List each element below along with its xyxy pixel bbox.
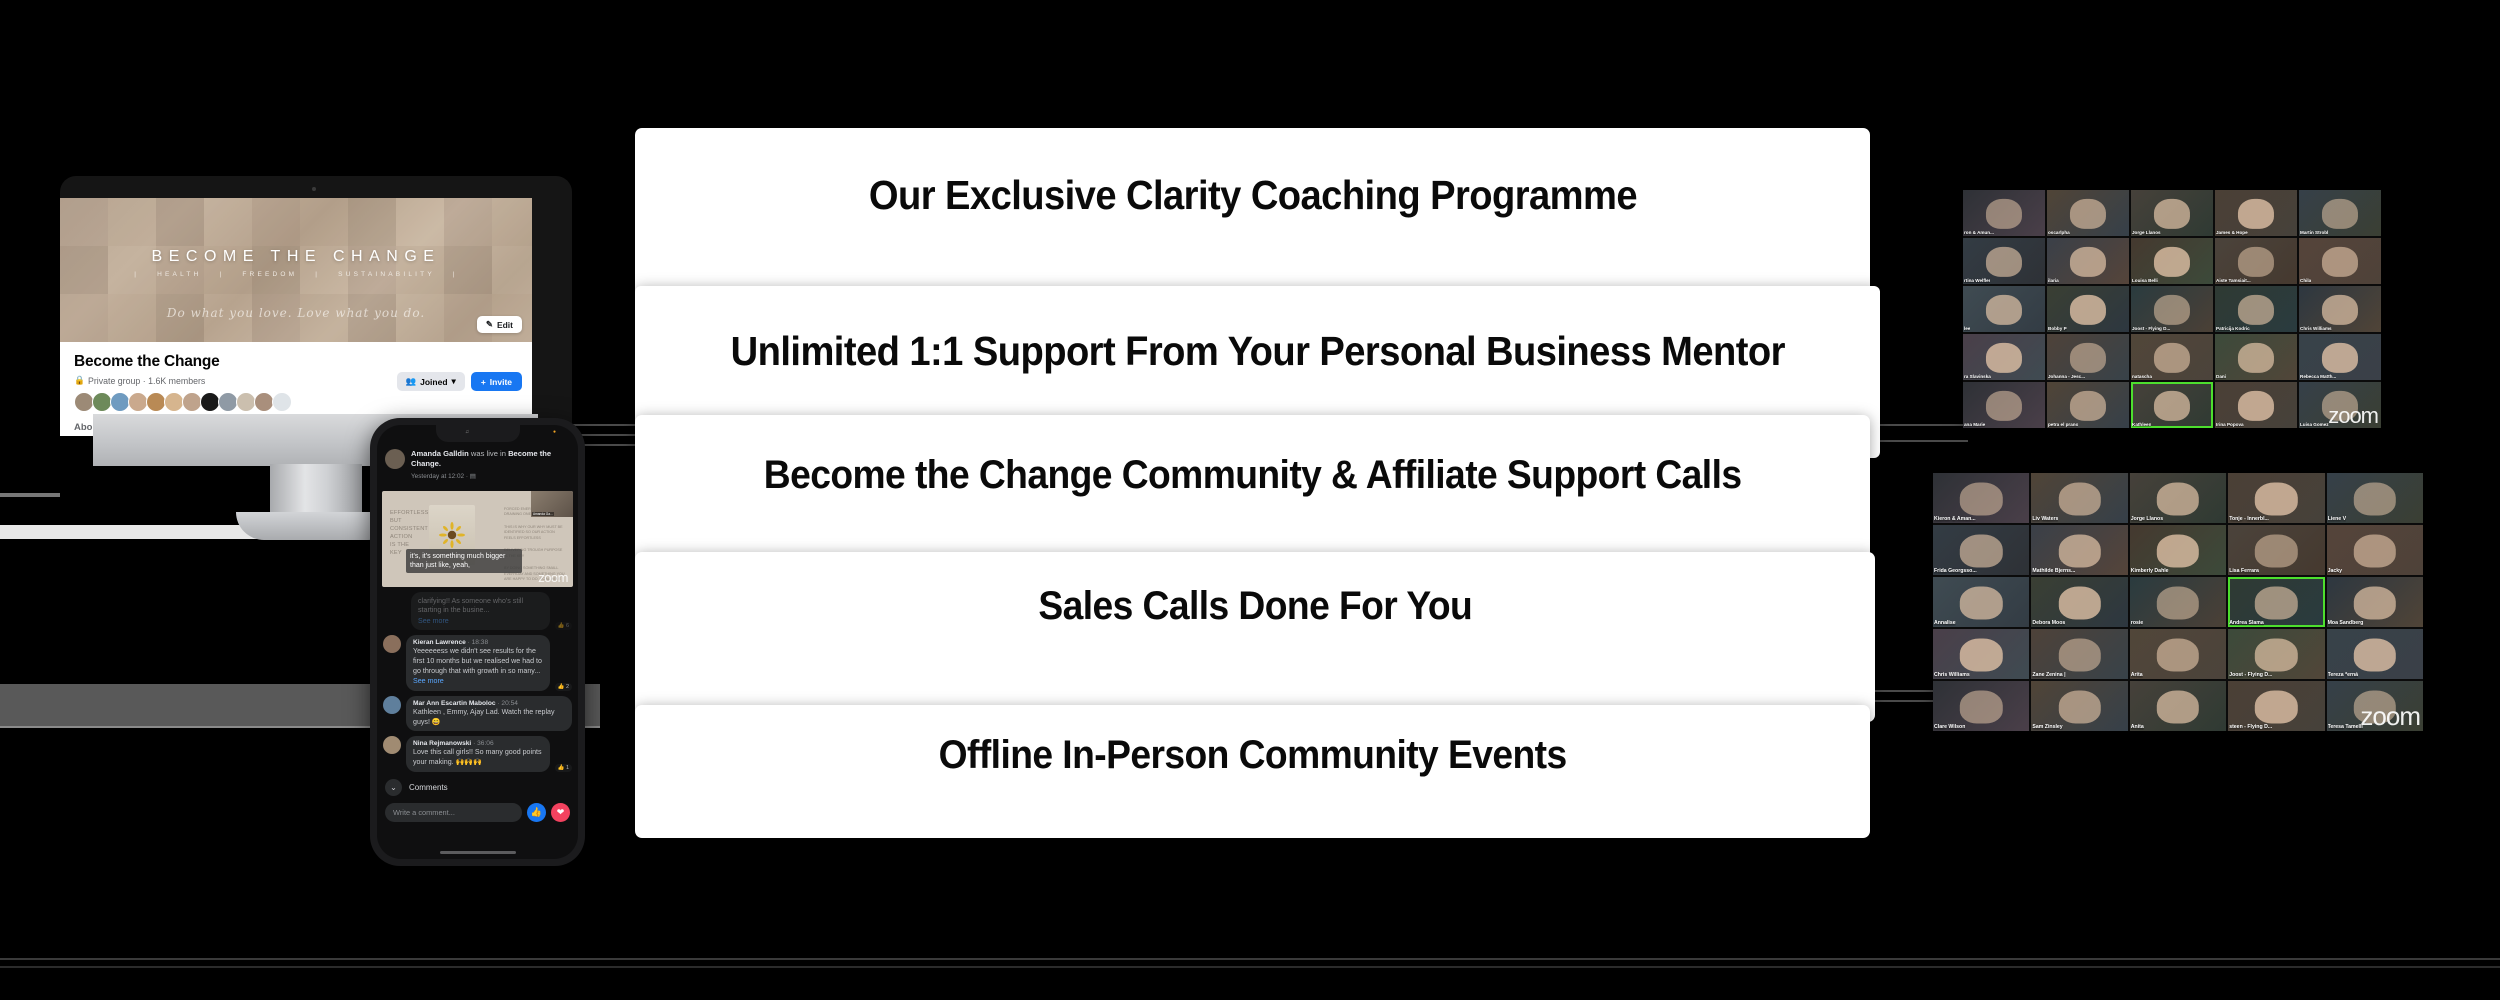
participant-name: Moa Sandberg <box>2328 620 2364 626</box>
participant-video <box>2255 535 2297 568</box>
cover-tagline: Do what you love. Love what you do. <box>60 306 532 320</box>
zoom-participant-tile[interactable]: Chris Williams <box>2299 286 2381 332</box>
comment-item: clarifying!! As someone who's still star… <box>377 587 578 631</box>
chevron-down-icon: ⌄ <box>385 779 402 796</box>
member-avatar[interactable] <box>110 392 130 412</box>
cover-collage-tile <box>156 198 204 246</box>
participant-name: Kathleen <box>2132 422 2151 427</box>
participant-video <box>2058 639 2100 672</box>
participant-name: Liene V <box>2328 516 2346 522</box>
zoom-participant-tile[interactable]: Aiste Tamsiait... <box>2215 238 2297 284</box>
zoom-participant-tile[interactable]: Martin Strobl <box>2299 190 2381 236</box>
zoom-participant-tile[interactable]: Anita <box>2130 681 2226 731</box>
participant-video <box>2238 247 2274 277</box>
participant-video <box>2322 343 2358 373</box>
zoom-participant-tile[interactable]: Joost - Flying D... <box>2228 629 2324 679</box>
zoom-participant-tile[interactable]: ron & Amun... <box>1963 190 2045 236</box>
cover-collage-tile <box>492 198 532 246</box>
participant-name: Irina Popova <box>2216 422 2244 427</box>
iphone-mockup: ♫ ● Amanda Galldin was live in Become th… <box>370 418 585 866</box>
participant-name: Clare Wilson <box>1934 724 1965 730</box>
post-timestamp: Yesterday at 12:02 · ▤ <box>411 472 570 480</box>
invite-button[interactable]: + Invite <box>471 372 522 391</box>
feature-heading: Sales Calls Done For You <box>1038 584 1472 629</box>
zoom-participant-tile[interactable]: Jacky <box>2327 525 2423 575</box>
participant-name: Lisa Ferrara <box>2229 568 2259 574</box>
comment-author[interactable]: Kieran Lawrence · 18:38 <box>413 639 543 646</box>
participant-video <box>1960 639 2002 672</box>
comment-input[interactable]: Write a comment... <box>385 803 522 822</box>
zoom-participant-tile[interactable]: Liv Waters <box>2031 473 2127 523</box>
invite-label: Invite <box>490 377 512 387</box>
participant-video <box>2354 691 2396 724</box>
zoom-participant-tile[interactable]: Irina Popova <box>2215 382 2297 428</box>
participant-name: Luisa Gomez <box>2300 422 2329 427</box>
chevron-down-icon: ▾ <box>452 376 456 387</box>
participant-video <box>1986 391 2022 421</box>
facebook-group-page: BECOME THE CHANGE |HEALTH|FREEDOM|SUSTAI… <box>60 198 532 436</box>
reaction-badge[interactable]: 👍 1 <box>555 764 572 772</box>
member-avatar[interactable] <box>254 392 274 412</box>
participant-name: Bobby P <box>2048 326 2067 331</box>
zoom-participant-tile[interactable]: Annalise <box>1933 577 2029 627</box>
participant-video <box>2255 587 2297 620</box>
feature-panel-sales-calls[interactable]: Sales Calls Done For You <box>635 552 1875 722</box>
comment-body: Love this call girls!! So many good poin… <box>413 748 543 767</box>
avatar[interactable] <box>383 635 401 653</box>
avatar[interactable] <box>385 449 405 469</box>
participant-video <box>2058 587 2100 620</box>
comment-body: Kathleen , Emmy, Ajay Lad. Watch the rep… <box>413 708 565 727</box>
zoom-participant-tile[interactable]: oscarlpha <box>2047 190 2129 236</box>
comment-time: · 36:06 <box>473 740 494 747</box>
participant-video <box>2322 199 2358 229</box>
participant-name: Sam Zinsley <box>2032 724 2062 730</box>
cover-collage-tile <box>300 198 348 246</box>
member-avatar-stack[interactable] <box>74 392 532 412</box>
participant-name: Jorge Llanos <box>2132 230 2161 235</box>
zoom-participant-tile[interactable]: Johanna - Jesc... <box>2047 334 2129 380</box>
live-caption: it's, it's something much bigger than ju… <box>406 549 522 574</box>
participant-name: Tereza *erná <box>2328 672 2358 678</box>
participant-name: Aiste Tamsiait... <box>2216 278 2251 283</box>
slide-bullet: THIS IS WHY OUR WHY MUST BE IDENTIFIED S… <box>504 525 566 542</box>
zoom-participant-tile[interactable]: Jorge Llanos <box>2131 190 2213 236</box>
zoom-watermark: zoom <box>538 570 568 585</box>
participant-video <box>1986 295 2022 325</box>
imac-stand-neck <box>270 464 362 516</box>
pip-name: Amanda Ga... <box>532 512 554 516</box>
participant-name: ilaria <box>2048 278 2059 283</box>
zoom-participant-tile[interactable]: Kimberly Dahle <box>2130 525 2226 575</box>
participant-video <box>2058 691 2100 724</box>
zoom-participant-tile[interactable]: Kathleen <box>2131 382 2213 428</box>
comment-author[interactable]: Nina Rejmanowski · 36:06 <box>413 740 543 747</box>
post-action: was live in <box>469 449 508 458</box>
group-action-buttons: 👥 Joined ▾ + Invite <box>397 372 522 391</box>
participant-video <box>2255 639 2297 672</box>
participant-video <box>2157 691 2199 724</box>
iphone-body: ♫ ● Amanda Galldin was live in Become th… <box>370 418 585 866</box>
cover-collage-tile <box>108 198 156 246</box>
zoom-participant-tile[interactable]: Teresa Tamelli <box>2327 681 2423 731</box>
zoom-participant-tile[interactable]: steen - Flying D... <box>2228 681 2324 731</box>
participant-video <box>2157 483 2199 516</box>
member-avatar[interactable] <box>146 392 166 412</box>
zoom-participant-tile[interactable]: petra el prano <box>2047 382 2129 428</box>
participant-name: Jacky <box>2328 568 2342 574</box>
zoom-participant-tile[interactable]: ilaria <box>2047 238 2129 284</box>
joined-button[interactable]: 👥 Joined ▾ <box>397 372 465 391</box>
participant-name: lee <box>1964 326 1970 331</box>
webcam-icon <box>312 187 316 191</box>
participant-name: Teresa Tamelli <box>2328 724 2363 730</box>
member-avatar[interactable] <box>92 392 112 412</box>
lock-icon: 🔒 <box>74 375 85 386</box>
feature-heading: Unlimited 1:1 Support From Your Personal… <box>730 328 1784 375</box>
cover-collage-tile <box>396 198 444 246</box>
participant-name: Chris Williams <box>2300 326 2332 331</box>
participant-video <box>2322 247 2358 277</box>
edit-cover-label: Edit <box>497 320 513 330</box>
participant-name: Liv Waters <box>2032 516 2058 522</box>
avatar[interactable] <box>383 696 401 714</box>
group-privacy-icon: ▤ <box>470 473 476 480</box>
participant-name: Tonje - Innerbl... <box>2229 516 2269 522</box>
participant-name: ana Marie <box>1964 422 1985 427</box>
group-meta-label: Private group · 1.6K members <box>88 376 205 386</box>
zoom-participant-tile[interactable]: Joost - Flying D... <box>2131 286 2213 332</box>
zoom-participant-tile[interactable]: Moa Sandberg <box>2327 577 2423 627</box>
participant-name: Mathilde Bjerns... <box>2032 568 2075 574</box>
participant-name: Joost - Flying D... <box>2229 672 2272 678</box>
participant-video <box>2238 343 2274 373</box>
comment-bubble[interactable]: clarifying!! As someone who's still star… <box>411 592 550 631</box>
participant-name: rtina Welfler <box>1964 278 1990 283</box>
zoom-participant-tile[interactable]: Kieron & Aman... <box>1933 473 2029 523</box>
cover-collage-tile <box>348 198 396 246</box>
participant-name: Annalise <box>1934 620 1956 626</box>
comments-label: Comments <box>409 783 448 792</box>
participant-name: ron & Amun... <box>1964 230 1994 235</box>
member-avatar[interactable] <box>74 392 94 412</box>
cover-collage-tile <box>204 198 252 246</box>
zoom-participant-tile[interactable]: Zane Zenina | <box>2031 629 2127 679</box>
connector-line-bottom-rule2 <box>0 966 2500 968</box>
cover-title: BECOME THE CHANGE <box>60 248 532 266</box>
participant-video <box>2070 295 2106 325</box>
participant-video <box>2154 343 2190 373</box>
zoom-participant-tile[interactable]: Clare Wilson <box>1933 681 2029 731</box>
member-avatar[interactable] <box>236 392 256 412</box>
joined-label: Joined <box>420 377 447 387</box>
comment-time: · 20:54 <box>497 700 518 707</box>
participant-video <box>2354 587 2396 620</box>
connector-line-right-lower <box>1868 440 1968 442</box>
group-name: Become the Change <box>74 353 532 371</box>
zoom-participant-tile[interactable]: rtina Welfler <box>1963 238 2045 284</box>
comment-item: Nina Rejmanowski · 36:06Love this call g… <box>377 731 578 771</box>
zoom-participant-tile[interactable]: Mathilde Bjerns... <box>2031 525 2127 575</box>
zoom-participant-tile[interactable]: Frida Georgsso... <box>1933 525 2029 575</box>
edit-cover-button[interactable]: ✎ Edit <box>477 316 522 333</box>
zoom-participant-tile[interactable]: Tonje - Innerbl... <box>2228 473 2324 523</box>
participant-name: Johanna - Jesc... <box>2048 374 2085 379</box>
participant-video <box>2070 247 2106 277</box>
heart-icon[interactable]: ❤ <box>551 803 570 822</box>
participant-video <box>2322 391 2358 421</box>
participant-video <box>2157 639 2199 672</box>
comment-bubble[interactable]: Kieran Lawrence · 18:38Yeeeeeess we didn… <box>406 635 550 691</box>
comment-author[interactable]: Mar Ann Escartin Maboloc · 20:54 <box>413 700 565 707</box>
member-avatar[interactable] <box>200 392 220 412</box>
participant-name: Louisa Belli <box>2132 278 2158 283</box>
member-avatar[interactable] <box>128 392 148 412</box>
cover-pillars: |HEALTH|FREEDOM|SUSTAINABILITY| <box>60 271 532 278</box>
participant-video <box>1986 343 2022 373</box>
group-cover-photo[interactable]: BECOME THE CHANGE |HEALTH|FREEDOM|SUSTAI… <box>60 198 532 342</box>
participant-video <box>2255 691 2297 724</box>
connector-line-right-upper <box>1868 424 1968 426</box>
status-bar-left-icon: ♫ <box>465 429 469 435</box>
plus-icon: + <box>481 377 486 387</box>
participant-video <box>1960 483 2002 516</box>
zoom-participant-tile[interactable]: Louisa Belli <box>2131 238 2213 284</box>
participant-name: Joost - Flying D... <box>2132 326 2170 331</box>
participant-video <box>2354 639 2396 672</box>
participant-name: Dani <box>2216 374 2226 379</box>
participant-name: Chris Williams <box>1934 672 1970 678</box>
see-more-link[interactable]: See more <box>413 677 543 687</box>
member-avatar[interactable] <box>164 392 184 412</box>
participant-name: Chila <box>2300 278 2311 283</box>
participant-name: Arita <box>2131 672 2143 678</box>
cover-collage-tile <box>60 198 108 246</box>
imac-display-body: BECOME THE CHANGE |HEALTH|FREEDOM|SUSTAI… <box>60 176 572 436</box>
participant-video <box>2058 483 2100 516</box>
reaction-badge[interactable]: 👍 6 <box>555 622 572 630</box>
participant-video <box>2354 535 2396 568</box>
cover-collage-tile <box>252 198 300 246</box>
zoom-participant-tile[interactable]: Arita <box>2130 629 2226 679</box>
participant-video <box>2154 247 2190 277</box>
participant-video <box>1960 587 2002 620</box>
participant-video <box>1986 199 2022 229</box>
zoom-participant-tile[interactable]: Dani <box>2215 334 2297 380</box>
feature-heading: Our Exclusive Clarity Coaching Programme <box>868 172 1636 219</box>
connector-line-bottom-rule <box>0 958 2500 960</box>
participant-name: rosie <box>2131 620 2143 626</box>
post-byline: Amanda Galldin was live in Become the Ch… <box>411 449 570 470</box>
participant-name: natascha <box>2132 374 2152 379</box>
participant-video <box>2070 343 2106 373</box>
participant-name: Andrea Slama <box>2229 620 2264 626</box>
zoom-gallery-top[interactable]: zoom ron & Amun...oscarlphaJorge LlanosJ… <box>1963 190 2381 428</box>
zoom-participant-tile[interactable]: Debora Moos <box>2031 577 2127 627</box>
comment-item: Kieran Lawrence · 18:38Yeeeeeess we didn… <box>377 630 578 691</box>
zoom-participant-tile[interactable]: Luisa Gomez <box>2299 382 2381 428</box>
participant-name: Frida Georgsso... <box>1934 568 1977 574</box>
participant-video <box>2070 391 2106 421</box>
comment-time: · 18:38 <box>468 639 489 646</box>
post-author[interactable]: Amanda Galldin <box>411 449 469 458</box>
feature-heading: Offline In-Person Community Events <box>939 733 1567 778</box>
thumbs-up-icon[interactable]: 👍 <box>527 803 546 822</box>
home-indicator <box>440 851 516 854</box>
comment-list: clarifying!! As someone who's still star… <box>377 587 578 772</box>
comments-toggle[interactable]: ⌄ Comments <box>377 772 578 796</box>
presenter-pip: Amanda Ga... <box>531 491 573 517</box>
participant-name: Jorge Llanos <box>2131 516 2163 522</box>
participant-name: Kieron & Aman... <box>1934 516 1976 522</box>
participant-name: oscarlpha <box>2048 230 2070 235</box>
participant-video <box>2154 391 2190 421</box>
zoom-participant-tile[interactable]: Jorge Llanos <box>2130 473 2226 523</box>
zoom-participant-tile[interactable]: Sam Zinsley <box>2031 681 2127 731</box>
avatar[interactable] <box>383 736 401 754</box>
participant-video <box>2322 295 2358 325</box>
comment-indent <box>383 592 406 631</box>
comment-body: Yeeeeeess we didn't see results for the … <box>413 647 543 676</box>
see-more-link[interactable]: See more <box>418 617 543 627</box>
participant-name: ra Slavinska <box>1964 374 1991 379</box>
sunflower-icon <box>439 522 465 548</box>
participant-video <box>1986 247 2022 277</box>
zoom-participant-tile[interactable]: Tereza *erná <box>2327 629 2423 679</box>
participant-name: steen - Flying D... <box>2229 724 2272 730</box>
participant-name: Rebecca Matth... <box>2300 374 2336 379</box>
zoom-participant-tile[interactable]: Andrea Slama <box>2228 577 2324 627</box>
zoom-participant-tile[interactable]: Liene V <box>2327 473 2423 523</box>
participant-name: Patricija Kodric <box>2216 326 2250 331</box>
zoom-participant-tile[interactable]: Bobby P <box>2047 286 2129 332</box>
zoom-participant-tile[interactable]: Rebecca Matth... <box>2299 334 2381 380</box>
participant-name: petra el prano <box>2048 422 2078 427</box>
participant-name: Zane Zenina | <box>2032 672 2065 678</box>
zoom-participant-tile[interactable]: Lisa Ferrara <box>2228 525 2324 575</box>
iphone-notch <box>436 425 520 442</box>
participant-video <box>2238 199 2274 229</box>
zoom-participant-tile[interactable]: Chris Williams <box>1933 629 2029 679</box>
participant-video <box>2157 587 2199 620</box>
participant-video <box>2238 391 2274 421</box>
participant-name: James & Hope <box>2216 230 2248 235</box>
zoom-participant-tile[interactable]: lee <box>1963 286 2045 332</box>
zoom-participant-tile[interactable]: Patricija Kodric <box>2215 286 2297 332</box>
comment-body: clarifying!! As someone who's still star… <box>418 597 543 616</box>
participant-name: Anita <box>2131 724 2144 730</box>
feature-heading: Become the Change Community & Affiliate … <box>764 453 1742 498</box>
feature-panel-offline-events[interactable]: Offline In-Person Community Events <box>635 705 1870 838</box>
participant-name: Debora Moos <box>2032 620 2065 626</box>
people-icon: 👥 <box>406 376 417 387</box>
live-video-player[interactable]: EFFORTLESSBUTCONSISTENTACTIONIS THEKEY F… <box>382 491 573 587</box>
participant-video <box>2070 199 2106 229</box>
reaction-badge[interactable]: 👍 2 <box>555 683 572 691</box>
comment-composer: Write a comment... 👍 ❤ <box>377 796 578 822</box>
comment-bubble[interactable]: Nina Rejmanowski · 36:06Love this call g… <box>406 736 550 771</box>
status-bar-recording-dot: ● <box>553 429 556 435</box>
participant-name: Martin Strobl <box>2300 230 2328 235</box>
zoom-participant-tile[interactable]: ra Slavinska <box>1963 334 2045 380</box>
participant-video <box>2154 295 2190 325</box>
cover-collage-tile <box>444 198 492 246</box>
participant-video <box>2238 295 2274 325</box>
comment-item: Mar Ann Escartin Maboloc · 20:54Kathleen… <box>377 691 578 731</box>
zoom-participant-tile[interactable]: James & Hope <box>2215 190 2297 236</box>
member-avatar[interactable] <box>218 392 238 412</box>
participant-video <box>2255 483 2297 516</box>
zoom-participant-tile[interactable]: natascha <box>2131 334 2213 380</box>
participant-video <box>2354 483 2396 516</box>
feature-panel-community-calls[interactable]: Become the Change Community & Affiliate … <box>635 415 1870 575</box>
zoom-participant-tile[interactable]: Chila <box>2299 238 2381 284</box>
pencil-icon: ✎ <box>486 319 493 330</box>
participant-video <box>2157 535 2199 568</box>
member-avatar[interactable] <box>272 392 292 412</box>
zoom-participant-tile[interactable]: rosie <box>2130 577 2226 627</box>
iphone-screen: ♫ ● Amanda Galldin was live in Become th… <box>377 425 578 859</box>
participant-video <box>1960 535 2002 568</box>
participant-name: Kimberly Dahle <box>2131 568 2169 574</box>
comment-bubble[interactable]: Mar Ann Escartin Maboloc · 20:54Kathleen… <box>406 696 572 731</box>
zoom-gallery-bottom[interactable]: zoom Kieron & Aman...Liv WatersJorge Lla… <box>1933 473 2423 731</box>
background-shelf-accent <box>0 493 60 497</box>
member-avatar[interactable] <box>182 392 202 412</box>
zoom-participant-tile[interactable]: ana Marie <box>1963 382 2045 428</box>
participant-video <box>2154 199 2190 229</box>
participant-video <box>1960 691 2002 724</box>
participant-video <box>2058 535 2100 568</box>
